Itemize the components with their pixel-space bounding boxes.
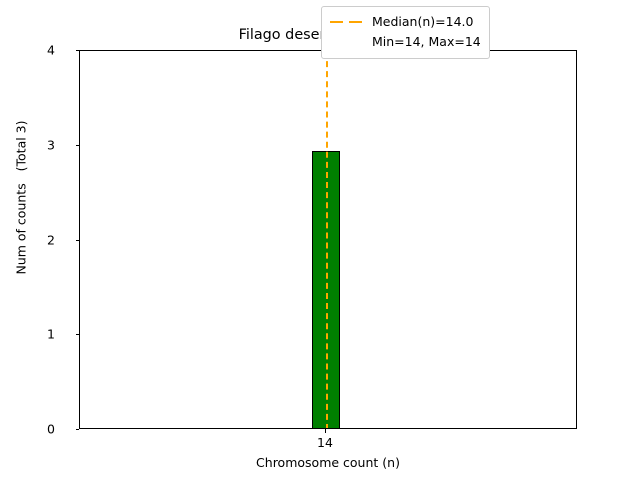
legend-label-minmax: Min=14, Max=14 xyxy=(372,32,481,52)
plot-axes xyxy=(79,50,577,429)
x-axis-label: Chromosome count (n) xyxy=(79,455,577,470)
dashed-line-icon xyxy=(330,12,364,32)
blank-marker-icon xyxy=(330,32,364,52)
y-tick-label-3: 3 xyxy=(15,137,55,152)
y-tick-label-1: 1 xyxy=(15,327,55,342)
matplotlib-figure: Filago desertorum Pomel Num of counts (T… xyxy=(0,0,640,480)
x-tick-label-14: 14 xyxy=(295,435,355,450)
y-tick-mark-0 xyxy=(76,429,80,430)
x-tick-mark-14 xyxy=(325,429,326,433)
y-tick-label-0: 0 xyxy=(15,422,55,437)
y-tick-label-2: 2 xyxy=(15,232,55,247)
y-tick-label-4: 4 xyxy=(15,43,55,58)
legend-entry-median: Median(n)=14.0 xyxy=(330,12,481,32)
median-line xyxy=(326,51,328,428)
plot-area xyxy=(80,51,576,428)
y-axis-label: Num of counts (Total 3) xyxy=(14,28,29,368)
legend-entry-minmax: Min=14, Max=14 xyxy=(330,32,481,52)
legend: Median(n)=14.0 Min=14, Max=14 xyxy=(321,6,490,59)
legend-label-median: Median(n)=14.0 xyxy=(372,12,473,32)
